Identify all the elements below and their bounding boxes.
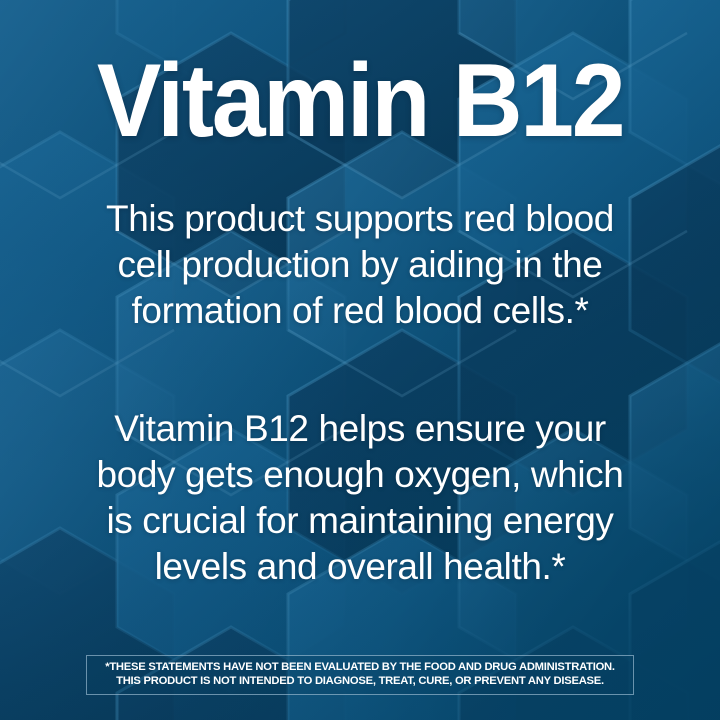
claim-2-line-1: Vitamin B12 helps ensure your [60,406,660,452]
disclaimer-line-2: THIS PRODUCT IS NOT INTENDED TO DIAGNOSE… [97,675,623,689]
claim-1-line-1: This product supports red blood [60,196,660,242]
product-claim-poster: Vitamin B12 This product supports red bl… [0,0,720,720]
disclaimer-line-1: *THESE STATEMENTS HAVE NOT BEEN EVALUATE… [97,661,623,675]
claim-1-line-2: cell production by aiding in the [60,242,660,288]
claim-paragraph-2: Vitamin B12 helps ensure your body gets … [60,406,660,590]
poster-content: Vitamin B12 This product supports red bl… [0,0,720,720]
claim-2-line-2: body gets enough oxygen, which [60,452,660,498]
page-title: Vitamin B12 [25,47,695,156]
fda-disclaimer-box: *THESE STATEMENTS HAVE NOT BEEN EVALUATE… [86,655,634,695]
claim-2-line-3: is crucial for maintaining energy [60,498,660,544]
claim-paragraph-1: This product supports red blood cell pro… [60,196,660,334]
claim-1-line-3: formation of red blood cells.* [60,288,660,334]
claim-2-line-4: levels and overall health.* [60,544,660,590]
